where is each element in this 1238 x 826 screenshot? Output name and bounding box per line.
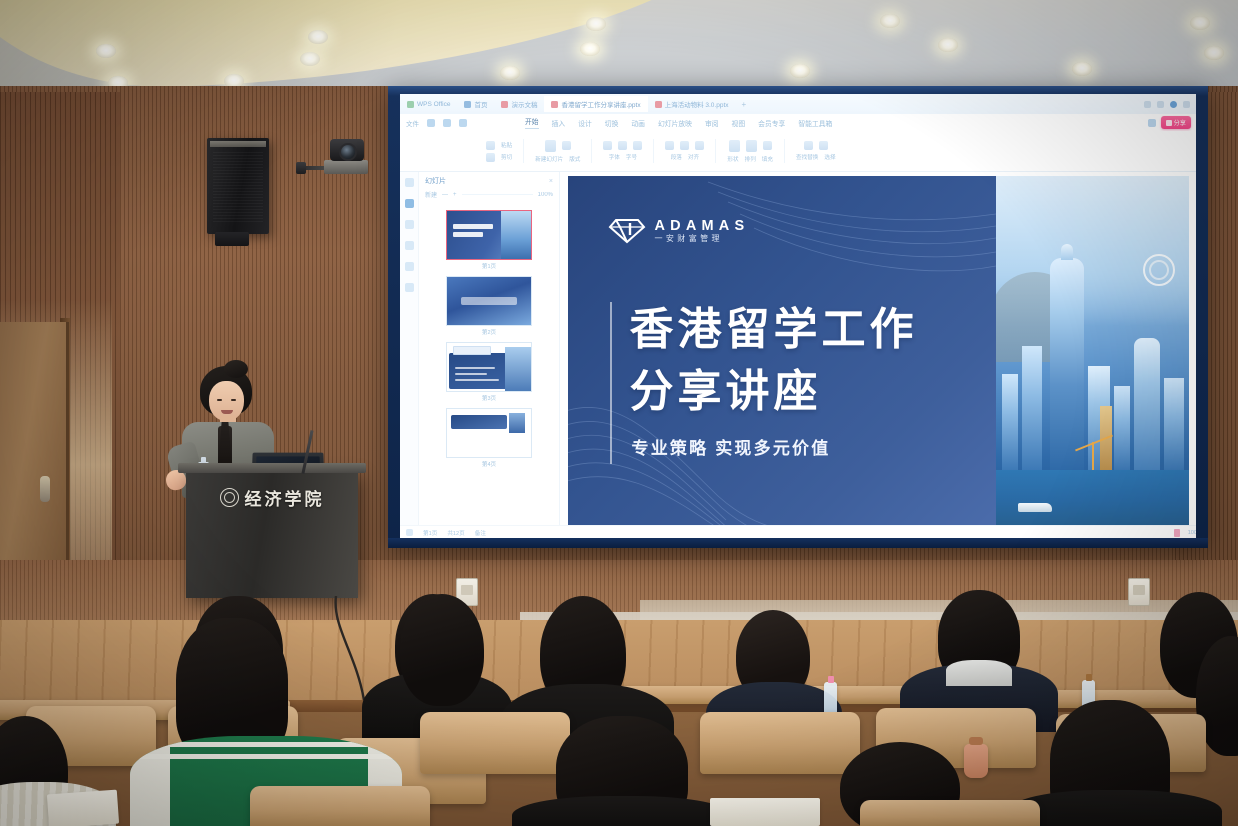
ifc-tower <box>1050 258 1084 470</box>
chair <box>860 800 1040 826</box>
menu-item-member[interactable]: 会员专享 <box>758 118 785 128</box>
zoom-out-icon[interactable]: — <box>442 192 448 198</box>
app-statusbar: 第1页 共12页 备注 100% <box>400 525 1196 538</box>
chair <box>700 712 860 774</box>
attendee-head <box>400 594 484 706</box>
new-tab-button[interactable]: + <box>736 100 753 109</box>
home-icon <box>464 101 471 108</box>
ribbon-label: 版式 <box>569 155 580 163</box>
ribbon-label: 查找替换 <box>796 153 818 161</box>
notebook <box>710 798 820 826</box>
pen-icon[interactable] <box>405 262 414 271</box>
menu-item-review[interactable]: 审阅 <box>705 118 719 128</box>
slides-icon[interactable] <box>405 199 414 208</box>
ceiling-downlight <box>1204 46 1224 60</box>
ribbon-label: 粘贴 <box>501 141 512 149</box>
tab-home[interactable]: 首页 <box>457 96 494 112</box>
ceiling-downlight <box>96 44 116 58</box>
door-handle <box>40 476 50 502</box>
chair <box>420 712 570 774</box>
cut-icon[interactable] <box>486 153 495 162</box>
ribbon-label: 字号 <box>626 153 637 161</box>
ceiling <box>0 0 1238 96</box>
avatar[interactable] <box>1170 101 1177 108</box>
layout-icon[interactable] <box>562 141 571 150</box>
search-icon[interactable] <box>1148 119 1156 127</box>
app-menubar: 文件 开始 插入 设计 切换 动画 幻灯片放映 审阅 视图 会员专享 智能工具箱 <box>400 114 1196 131</box>
tab-second-deck[interactable]: 上海活动物料 3.0.pptx <box>648 96 736 112</box>
find-replace-icon[interactable] <box>804 141 813 150</box>
ribbon-label: 选择 <box>824 153 835 161</box>
app-tabbar: WPS Office 首页 演示文稿 香港留学工作分享讲座.pptx 上海活动物… <box>400 94 1196 114</box>
ribbon-label: 排列 <box>745 155 756 163</box>
ceiling-downlight <box>938 38 958 52</box>
slide-thumbnail[interactable] <box>446 408 532 458</box>
thumbnail-label: 第2页 <box>482 328 496 336</box>
menu-item-animation[interactable]: 动画 <box>631 118 645 128</box>
status-page: 第1页 <box>423 529 437 537</box>
slide-title-line2: 分享讲座 <box>630 370 822 414</box>
ppt-icon <box>655 101 662 108</box>
save-icon[interactable] <box>427 119 435 127</box>
ceiling-downlight <box>308 30 328 44</box>
thermos-cup <box>964 744 988 778</box>
slide-title-line1: 香港留学工作 <box>630 308 918 352</box>
chair <box>250 786 430 826</box>
tab-active-deck[interactable]: 香港留学工作分享讲座.pptx <box>544 96 647 112</box>
undo-icon[interactable] <box>443 119 451 127</box>
close-icon[interactable]: × <box>549 178 553 185</box>
thumbnail-label: 第1页 <box>482 262 496 270</box>
minimize-icon[interactable] <box>1144 101 1151 108</box>
shapes-icon[interactable] <box>729 140 740 152</box>
watermark-circle-icon <box>1143 254 1175 286</box>
tab-wps[interactable]: WPS Office <box>400 96 457 112</box>
ribbon-group-editing: 查找替换 选择 <box>796 141 836 161</box>
ai-assistant-icon[interactable] <box>1174 529 1180 537</box>
share-icon <box>1166 120 1172 126</box>
list-item[interactable]: 第1页 <box>419 210 559 270</box>
share-button[interactable]: 分享 <box>1161 116 1191 129</box>
app-ribbon: 粘贴 剪切 新建幻灯片 版式 <box>400 131 1196 172</box>
ceiling-downlight <box>586 17 606 31</box>
select-icon[interactable] <box>819 141 828 150</box>
slide-subtitle: 专业策略 实现多元价值 <box>632 434 831 459</box>
tab-label: 上海活动物料 3.0.pptx <box>665 99 729 109</box>
thumbnail-pane: 幻灯片 × 新建 — + 100% <box>419 172 560 538</box>
redo-icon[interactable] <box>459 119 467 127</box>
ribbon-group-clipboard: 粘贴 剪切 <box>486 141 512 162</box>
bullet-list-icon[interactable] <box>665 141 674 150</box>
ppt-icon <box>501 101 508 108</box>
tab-label: 首页 <box>474 99 487 109</box>
list-item[interactable]: 第2页 <box>419 276 559 336</box>
fill-icon[interactable] <box>763 141 772 150</box>
lecture-hall-photo: WPS Office 首页 演示文稿 香港留学工作分享讲座.pptx 上海活动物… <box>0 0 1238 826</box>
status-notes[interactable]: 备注 <box>475 529 486 537</box>
page-icon <box>406 529 413 536</box>
logo-chinese: 一安财富管理 <box>655 235 750 243</box>
ceiling-downlight <box>300 52 320 66</box>
ribbon-group-slide: 新建幻灯片 版式 <box>535 140 580 163</box>
slide-thumbnail[interactable] <box>446 342 532 392</box>
menu-item-home[interactable]: 开始 <box>525 116 539 129</box>
ceiling-downlight <box>880 14 900 28</box>
ribbon-group-font: 字体 字号 <box>603 141 642 161</box>
tab-ppt[interactable]: 演示文稿 <box>494 96 544 112</box>
camera-lens-icon <box>339 143 357 161</box>
projection-screen: WPS Office 首页 演示文稿 香港留学工作分享讲座.pptx 上海活动物… <box>388 86 1208 548</box>
align-icon[interactable] <box>695 141 704 150</box>
close-icon[interactable] <box>1183 101 1190 108</box>
slide-canvas-area: ADAMAS 一安财富管理 香港留学工作 分享讲座 专业策略 实现多元价值 <box>560 172 1196 538</box>
menu-item-transition[interactable]: 切换 <box>605 118 619 128</box>
arrange-icon[interactable] <box>746 140 757 152</box>
thumbnail-label: 第3页 <box>482 394 496 402</box>
paste-icon[interactable] <box>486 141 495 150</box>
ceiling-downlight <box>500 66 520 80</box>
title-accent-bar <box>610 302 612 464</box>
notes-icon[interactable] <box>405 220 414 229</box>
bold-icon[interactable] <box>633 141 642 150</box>
list-item[interactable]: 第4页 <box>419 408 559 468</box>
list-item[interactable]: 第3页 <box>419 342 559 402</box>
ribbon-label: 对齐 <box>688 153 699 161</box>
font-icon[interactable] <box>603 141 612 150</box>
thumb-tool-new[interactable]: 新建 <box>425 190 437 199</box>
podium-sign: 经济学院 <box>204 484 340 510</box>
podium-sign-text: 经济学院 <box>245 485 325 510</box>
wps-icon <box>407 101 414 108</box>
ribbon-label: 形状 <box>727 155 738 163</box>
status-total: 共12页 <box>447 529 464 537</box>
app-workspace: 幻灯片 × 新建 — + 100% <box>400 172 1196 538</box>
ribbon-group-drawing: 形状 排列 填充 <box>727 140 773 163</box>
zoom-in-icon[interactable]: + <box>453 192 457 198</box>
status-zoom[interactable]: 100% <box>1188 530 1196 536</box>
attendee-shoulders <box>512 796 732 826</box>
ceiling-downlight <box>580 42 600 56</box>
notebook <box>47 790 119 826</box>
ceiling-downlight <box>790 64 810 78</box>
slide-thumbnail[interactable] <box>446 276 532 326</box>
tab-label: WPS Office <box>417 101 450 108</box>
tab-label: 演示文稿 <box>511 99 537 109</box>
tab-label: 香港留学工作分享讲座.pptx <box>561 99 640 109</box>
attendee-collar <box>946 660 1012 686</box>
restore-icon[interactable] <box>1157 101 1164 108</box>
wall-speaker <box>207 138 269 234</box>
slide-thumbnail[interactable] <box>446 210 532 260</box>
school-emblem-icon <box>220 488 239 507</box>
ppt-icon <box>551 101 558 108</box>
slide-logo: ADAMAS 一安财富管理 <box>608 218 750 244</box>
ribbon-label: 剪切 <box>501 153 512 161</box>
menu-item-toolbox[interactable]: 智能工具箱 <box>798 118 832 128</box>
logo-english: ADAMAS <box>655 219 750 234</box>
current-slide[interactable]: ADAMAS 一安财富管理 香港留学工作 分享讲座 专业策略 实现多元价值 <box>568 176 1189 528</box>
share-label: 分享 <box>1174 118 1186 127</box>
more-icon[interactable] <box>405 283 414 292</box>
ribbon-label: 段落 <box>671 153 682 161</box>
ceiling-downlight <box>1190 16 1210 30</box>
attendee-shoulders <box>1008 790 1222 826</box>
menu-item-view[interactable]: 视图 <box>732 118 746 128</box>
new-slide-icon[interactable] <box>545 140 556 152</box>
adamas-diamond-icon <box>608 218 646 244</box>
thumbnail-pane-title: 幻灯片 <box>425 176 446 186</box>
menu-item-slideshow[interactable]: 幻灯片放映 <box>658 118 692 128</box>
thumbnail-label: 第4页 <box>482 460 496 468</box>
menu-item-design[interactable]: 设计 <box>578 118 592 128</box>
ribbon-label: 字体 <box>609 153 620 161</box>
number-list-icon[interactable] <box>680 141 689 150</box>
podium: 经济学院 <box>186 470 358 598</box>
ceiling-downlight <box>1072 62 1092 76</box>
file-menu[interactable]: 文件 <box>406 118 419 128</box>
victoria-harbour <box>996 470 1189 528</box>
ribbon-label: 填充 <box>762 155 773 163</box>
comments-icon[interactable] <box>405 241 414 250</box>
zoom-level: 100% <box>538 192 553 198</box>
ptz-camera <box>330 139 364 161</box>
left-rail <box>400 172 419 538</box>
wall-switch-plate <box>1128 578 1150 606</box>
presentation-app-window: WPS Office 首页 演示文稿 香港留学工作分享讲座.pptx 上海活动物… <box>400 94 1196 538</box>
outline-icon[interactable] <box>405 178 414 187</box>
ribbon-label: 新建幻灯片 <box>535 155 563 163</box>
ribbon-group-paragraph: 段落 对齐 <box>665 141 704 161</box>
menu-item-insert[interactable]: 插入 <box>552 118 566 128</box>
water-bottle <box>824 682 837 716</box>
hong-kong-skyline-photo <box>996 176 1189 528</box>
font-size-icon[interactable] <box>618 141 627 150</box>
